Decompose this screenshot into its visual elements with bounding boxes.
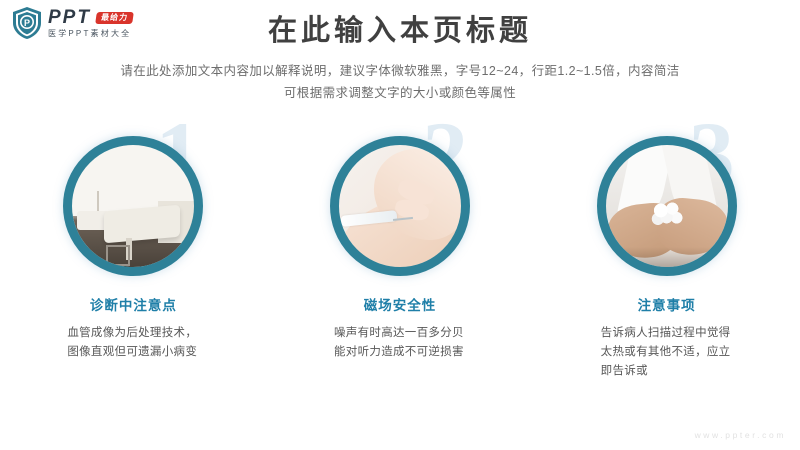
circle-ring-3 — [597, 136, 737, 276]
column-title-1: 诊断中注意点 — [90, 294, 177, 314]
column-body-1: 血管成像为后处理技术，图像直观但可遗漏小病变 — [67, 324, 199, 362]
page-subtitle-line-2: 可根据需求调整文字的大小或颜色等属性 — [0, 84, 800, 102]
content-columns: 1 诊断中注意点 血管成像为后处理技术，图像直观但可遗漏小病变 2 — [0, 112, 800, 432]
content-column-3[interactable]: 3 注意事项 告诉病人扫描过程中觉得太热或有其他不适，应立即告诉或 — [533, 112, 800, 432]
content-column-2[interactable]: 2 磁场安全性 噪声有时高达一百多分贝能对听力造成不可逆损害 — [267, 112, 534, 432]
column-body-3: 告诉病人扫描过程中觉得太热或有其他不适，应立即告诉或 — [601, 324, 733, 381]
page-title: 在此输入本页标题 — [0, 14, 800, 49]
content-column-1[interactable]: 1 诊断中注意点 血管成像为后处理技术，图像直观但可遗漏小病变 — [0, 112, 267, 432]
watermark: www.ppter.com — [695, 430, 786, 440]
circle-ring-2 — [330, 136, 470, 276]
circle-image-3[interactable] — [597, 136, 737, 276]
page-subtitle-line-1: 请在此处添加文本内容加以解释说明，建议字体微软雅黑，字号12~24，行距1.2~… — [0, 62, 800, 80]
circle-image-2[interactable] — [330, 136, 470, 276]
column-title-3: 注意事项 — [638, 294, 696, 314]
circle-ring-1 — [63, 136, 203, 276]
column-title-2: 磁场安全性 — [364, 294, 437, 314]
column-body-2: 噪声有时高达一百多分贝能对听力造成不可逆损害 — [334, 324, 466, 362]
circle-image-1[interactable] — [63, 136, 203, 276]
slide-canvas: P PPT 最给力 医学PPT素材大全 在此输入本页标题 请在此处添加文本内容加… — [0, 0, 800, 450]
